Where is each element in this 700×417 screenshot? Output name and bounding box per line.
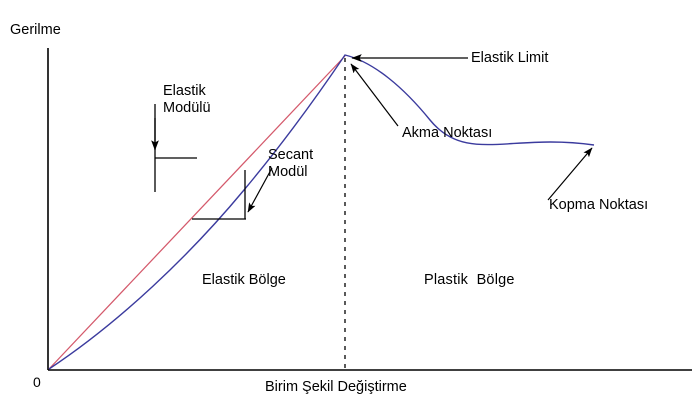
elastic-limit-label: Elastik Limit: [471, 50, 548, 67]
x-axis-label: Birim Şekil Değiştirme: [265, 379, 407, 396]
elastic-modulus-label: Elastik Modülü: [163, 83, 211, 117]
elastic-region-label: Elastik Bölge: [202, 272, 286, 289]
stress-strain-diagram: Gerilme Birim Şekil Değiştirme 0 Elastik…: [0, 0, 700, 417]
y-axis-label: Gerilme: [10, 22, 61, 39]
origin-label: 0: [33, 374, 41, 391]
yield-point-leader-arrow: [351, 64, 398, 126]
fracture-point-leader-arrow: [548, 148, 592, 200]
stress-strain-curve: [49, 55, 594, 369]
yield-point-label: Akma Noktası: [402, 125, 492, 142]
secant-modulus-label: Secant Modül: [268, 147, 313, 181]
plastic-region-label: Plastik Bölge: [424, 272, 515, 289]
fracture-point-label: Kopma Noktası: [549, 197, 648, 214]
